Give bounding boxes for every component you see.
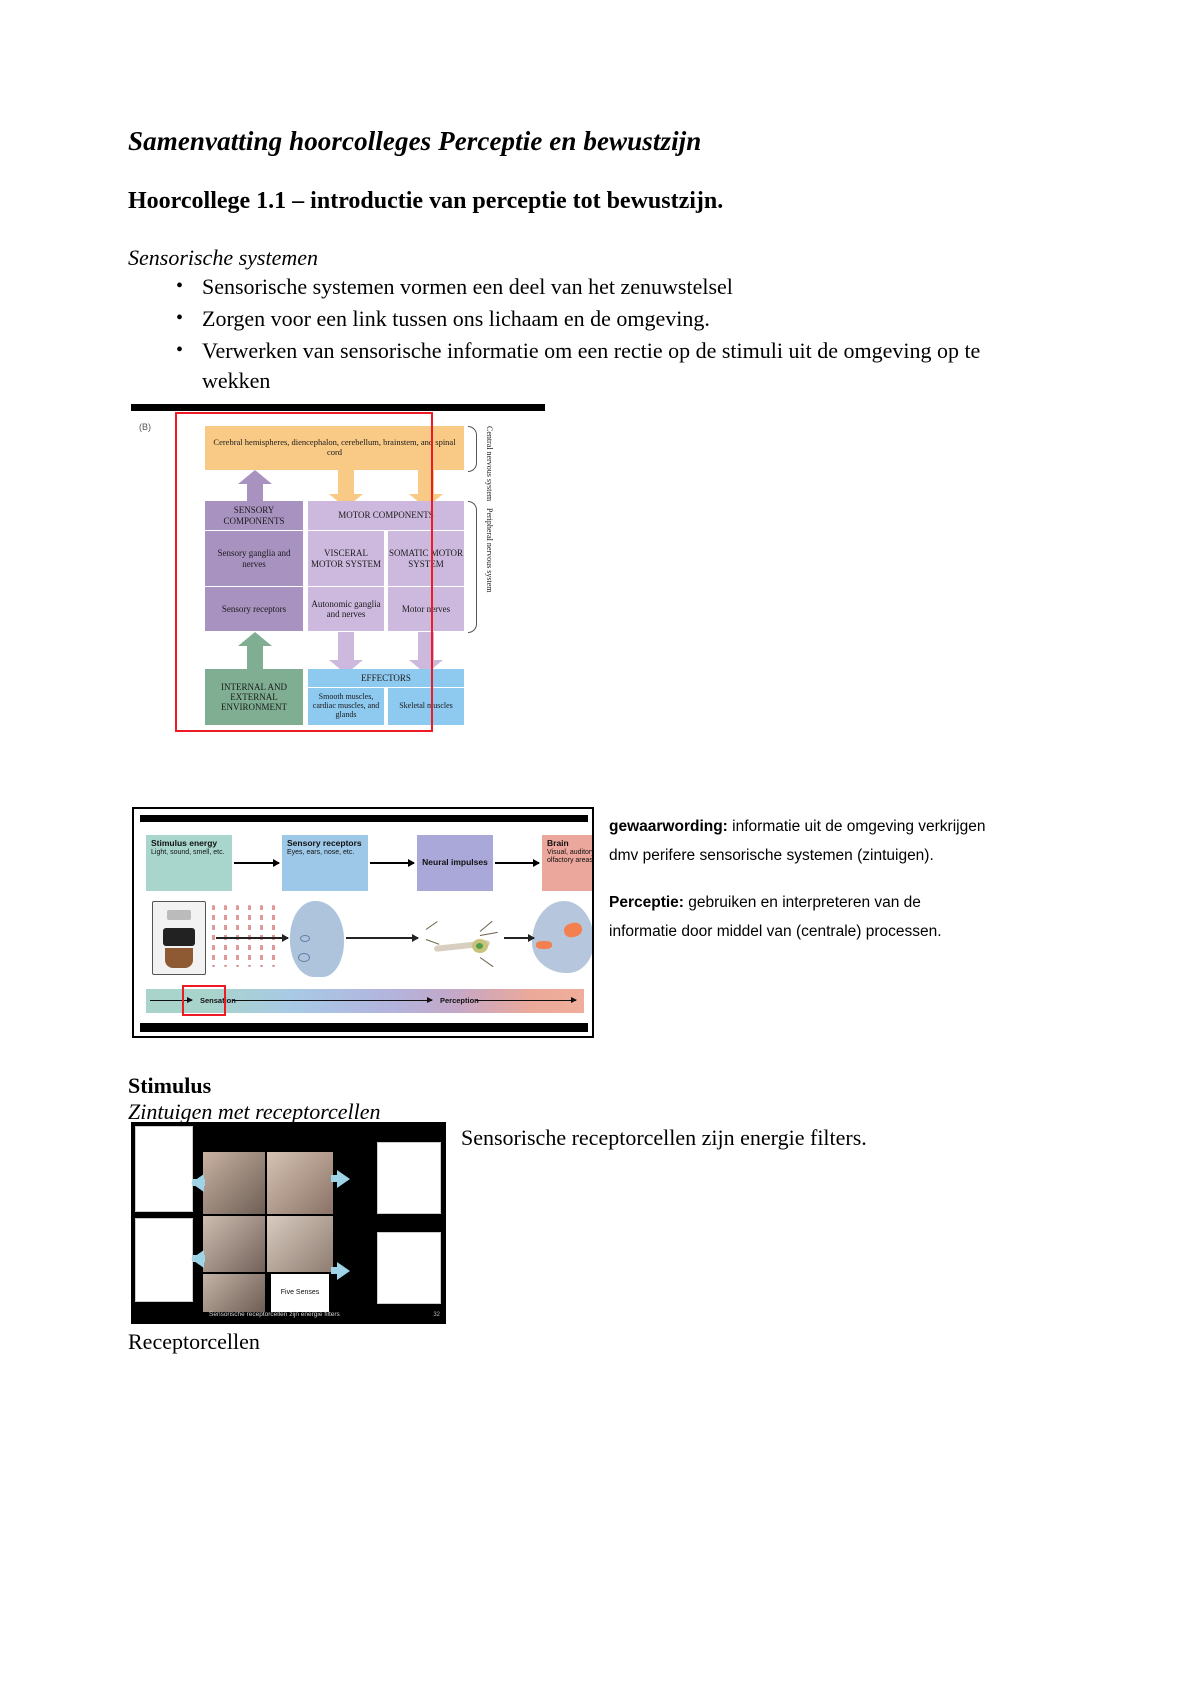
mouth-photo [203,1216,265,1272]
nose-photo [267,1216,333,1272]
sub-heading-sensorische-systemen: Sensorische systemen [128,245,318,271]
bullet-list: Sensorische systemen vormen een deel van… [128,272,1036,398]
eye-photo [267,1152,333,1214]
sensory-receptors-subtitle: Eyes, ears, nose, etc. [287,849,363,857]
neuron-illustration [424,909,502,971]
perception-label: Perception [440,996,479,1005]
sensory-receptors-box: Sensory receptors Eyes, ears, nose, etc. [282,835,368,891]
receptor-note-text: Sensorische receptorcellen zijn energie … [461,1125,867,1151]
head-profile-illustration [290,901,344,977]
neural-impulses-box: Neural impulses [417,835,493,891]
central-nervous-system-label: Central nervous system [485,426,493,501]
definition-gewaarwording: gewaarwording: informatie uit de omgevin… [609,812,989,870]
brain-subtitle: Visual, auditory, olfactory areas [547,849,594,865]
sound-waves-illustration [210,905,280,967]
brain-title: Brain [547,839,594,849]
definition-perceptie-term: Perceptie: [609,894,684,911]
peripheral-nervous-system-brace [468,501,477,633]
arrow-left-top-icon [191,1174,204,1192]
list-item: Verwerken van sensorische informatie om … [176,336,1036,396]
sidenote-definitions: gewaarwording: informatie uit de omgevin… [609,812,989,964]
figure-top-rule [131,404,545,411]
definition-gewaarwording-term: gewaarwording: [609,818,728,835]
head-to-neuron-arrow-icon [346,937,418,939]
list-item: Zorgen voor een link tussen ons lichaam … [176,304,1036,334]
gradient-arrow-3-icon [476,1000,576,1001]
tongue-anatomy-card [135,1218,193,1302]
brain-anatomy-card [135,1126,193,1212]
figure-top-rule [140,815,588,822]
stimulus-heading: Stimulus [128,1073,211,1099]
arrow-right-top-icon [337,1170,350,1188]
coffee-grinder-illustration [152,901,206,975]
ear-photo [203,1152,265,1214]
hand-photo [203,1274,265,1312]
gradient-arrow-2-icon [232,1000,432,1001]
section-heading: Hoorcollege 1.1 – introductie van percep… [128,188,723,215]
central-nervous-system-brace [468,426,477,472]
list-item: Sensorische systemen vormen een deel van… [176,272,1036,302]
receptorcellen-heading: Receptorcellen [128,1329,260,1355]
stimulus-energy-subtitle: Light, sound, smell, etc. [151,849,227,857]
page-title: Samenvatting hoorcolleges Perceptie en b… [128,126,701,157]
neural-impulses-title: Neural impulses [422,858,488,868]
stimulus-to-receptors-arrow-icon [234,862,279,864]
brain-box: Brain Visual, auditory, olfactory areas [542,835,594,891]
figure-five-senses-collage: Five Senses Sensorische receptorcellen z… [131,1122,446,1324]
receptors-to-impulses-arrow-icon [370,862,414,864]
document-page: Samenvatting hoorcolleges Perceptie en b… [0,0,1200,1698]
skin-anatomy-card [377,1232,441,1304]
definition-perceptie: Perceptie: gebruiken en interpreteren va… [609,888,989,946]
brain-illustration [532,901,594,973]
eye-anatomy-card [377,1142,441,1214]
sensation-highlight-box [182,985,226,1016]
figure-nervous-system-organization: (B) Cerebral hemispheres, diencephalon, … [131,404,545,732]
figure-sensation-perception: Stimulus energy Light, sound, smell, etc… [132,807,594,1038]
impulses-to-brain-arrow-icon [495,862,539,864]
stimulus-energy-box: Stimulus energy Light, sound, smell, etc… [146,835,232,891]
figure-bottom-rule [140,1023,588,1032]
sensory-pathway-highlight-box [175,412,433,732]
panel-label: (B) [139,422,151,432]
arrow-left-bottom-icon [191,1250,204,1268]
five-senses-label: Five Senses [271,1274,329,1312]
slide-page-number: 32 [433,1312,440,1318]
slide-caption: Sensorische receptorcellen zijn energie … [209,1311,340,1318]
sensory-receptors-title: Sensory receptors [287,839,363,849]
arrow-right-bottom-icon [337,1262,350,1280]
neuron-to-brain-arrow-icon [504,937,534,939]
stimulus-energy-title: Stimulus energy [151,839,227,849]
peripheral-nervous-system-label: Peripheral nervous system [485,508,493,592]
grinder-to-head-arrow-icon [216,937,288,939]
